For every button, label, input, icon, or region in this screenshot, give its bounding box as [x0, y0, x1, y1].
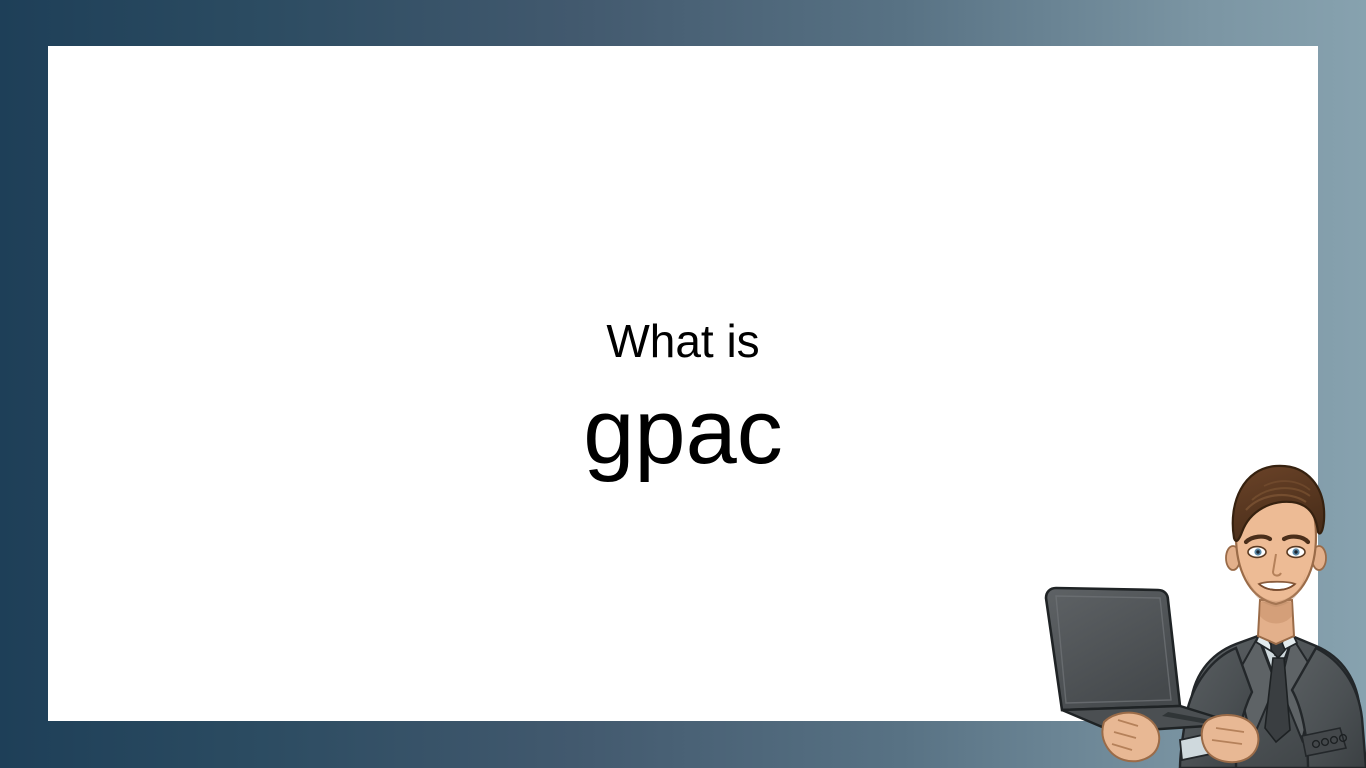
slide-root: What is gpac — [0, 0, 1366, 768]
businessman-with-laptop-illustration — [1040, 440, 1366, 768]
left-hand — [1102, 713, 1159, 762]
head — [1226, 466, 1326, 607]
right-hand — [1202, 715, 1259, 762]
